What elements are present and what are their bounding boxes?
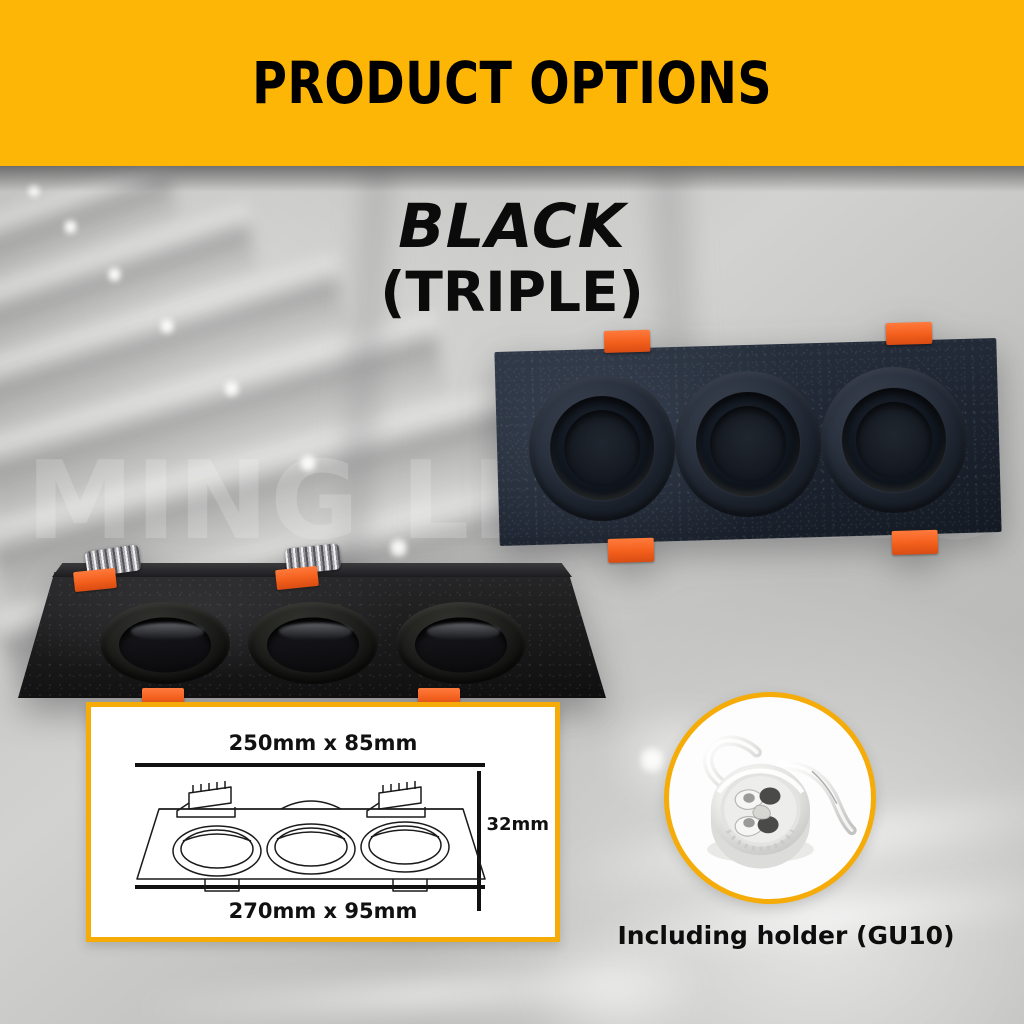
spring-clip-top-left xyxy=(604,330,651,353)
dimension-label-cutout: 250mm x 85mm xyxy=(91,731,555,755)
product-options-poster: MING LIGHTING xyxy=(0,0,1024,1024)
gu10-holder-badge xyxy=(664,692,876,904)
gimbal-highlight xyxy=(131,623,204,639)
gimbal-socket-1 xyxy=(100,602,230,684)
gimbal-socket-2 xyxy=(248,602,378,684)
gimbal-highlight xyxy=(279,623,352,639)
product-photo-angled-view xyxy=(18,560,606,710)
page-title: PRODUCT OPTIONS xyxy=(252,49,772,117)
dimension-label-depth: 32mm xyxy=(486,814,549,835)
gu10-holder-caption: Including holder (GU10) xyxy=(596,921,976,950)
gimbal-socket-3 xyxy=(396,602,526,684)
product-photo-front-view xyxy=(494,338,1001,546)
dimension-diagram-card: 250mm x 85mm 32mm 270mm x 95mm xyxy=(86,702,560,942)
product-variant-name: (TRIPLE) xyxy=(0,265,1024,320)
spring-clip-bottom-right xyxy=(892,530,939,555)
product-name-block: BLACK (TRIPLE) xyxy=(0,196,1024,320)
product-color-name: BLACK xyxy=(0,196,1024,257)
header-banner: PRODUCT OPTIONS xyxy=(0,0,1024,166)
spring-clip-bottom-left xyxy=(608,538,655,563)
fixture-line-drawing xyxy=(131,763,491,903)
spring-clip-top-right xyxy=(886,322,933,345)
gimbal-highlight xyxy=(427,623,500,639)
step-light xyxy=(224,378,239,399)
gu10-holder-image xyxy=(669,697,871,899)
